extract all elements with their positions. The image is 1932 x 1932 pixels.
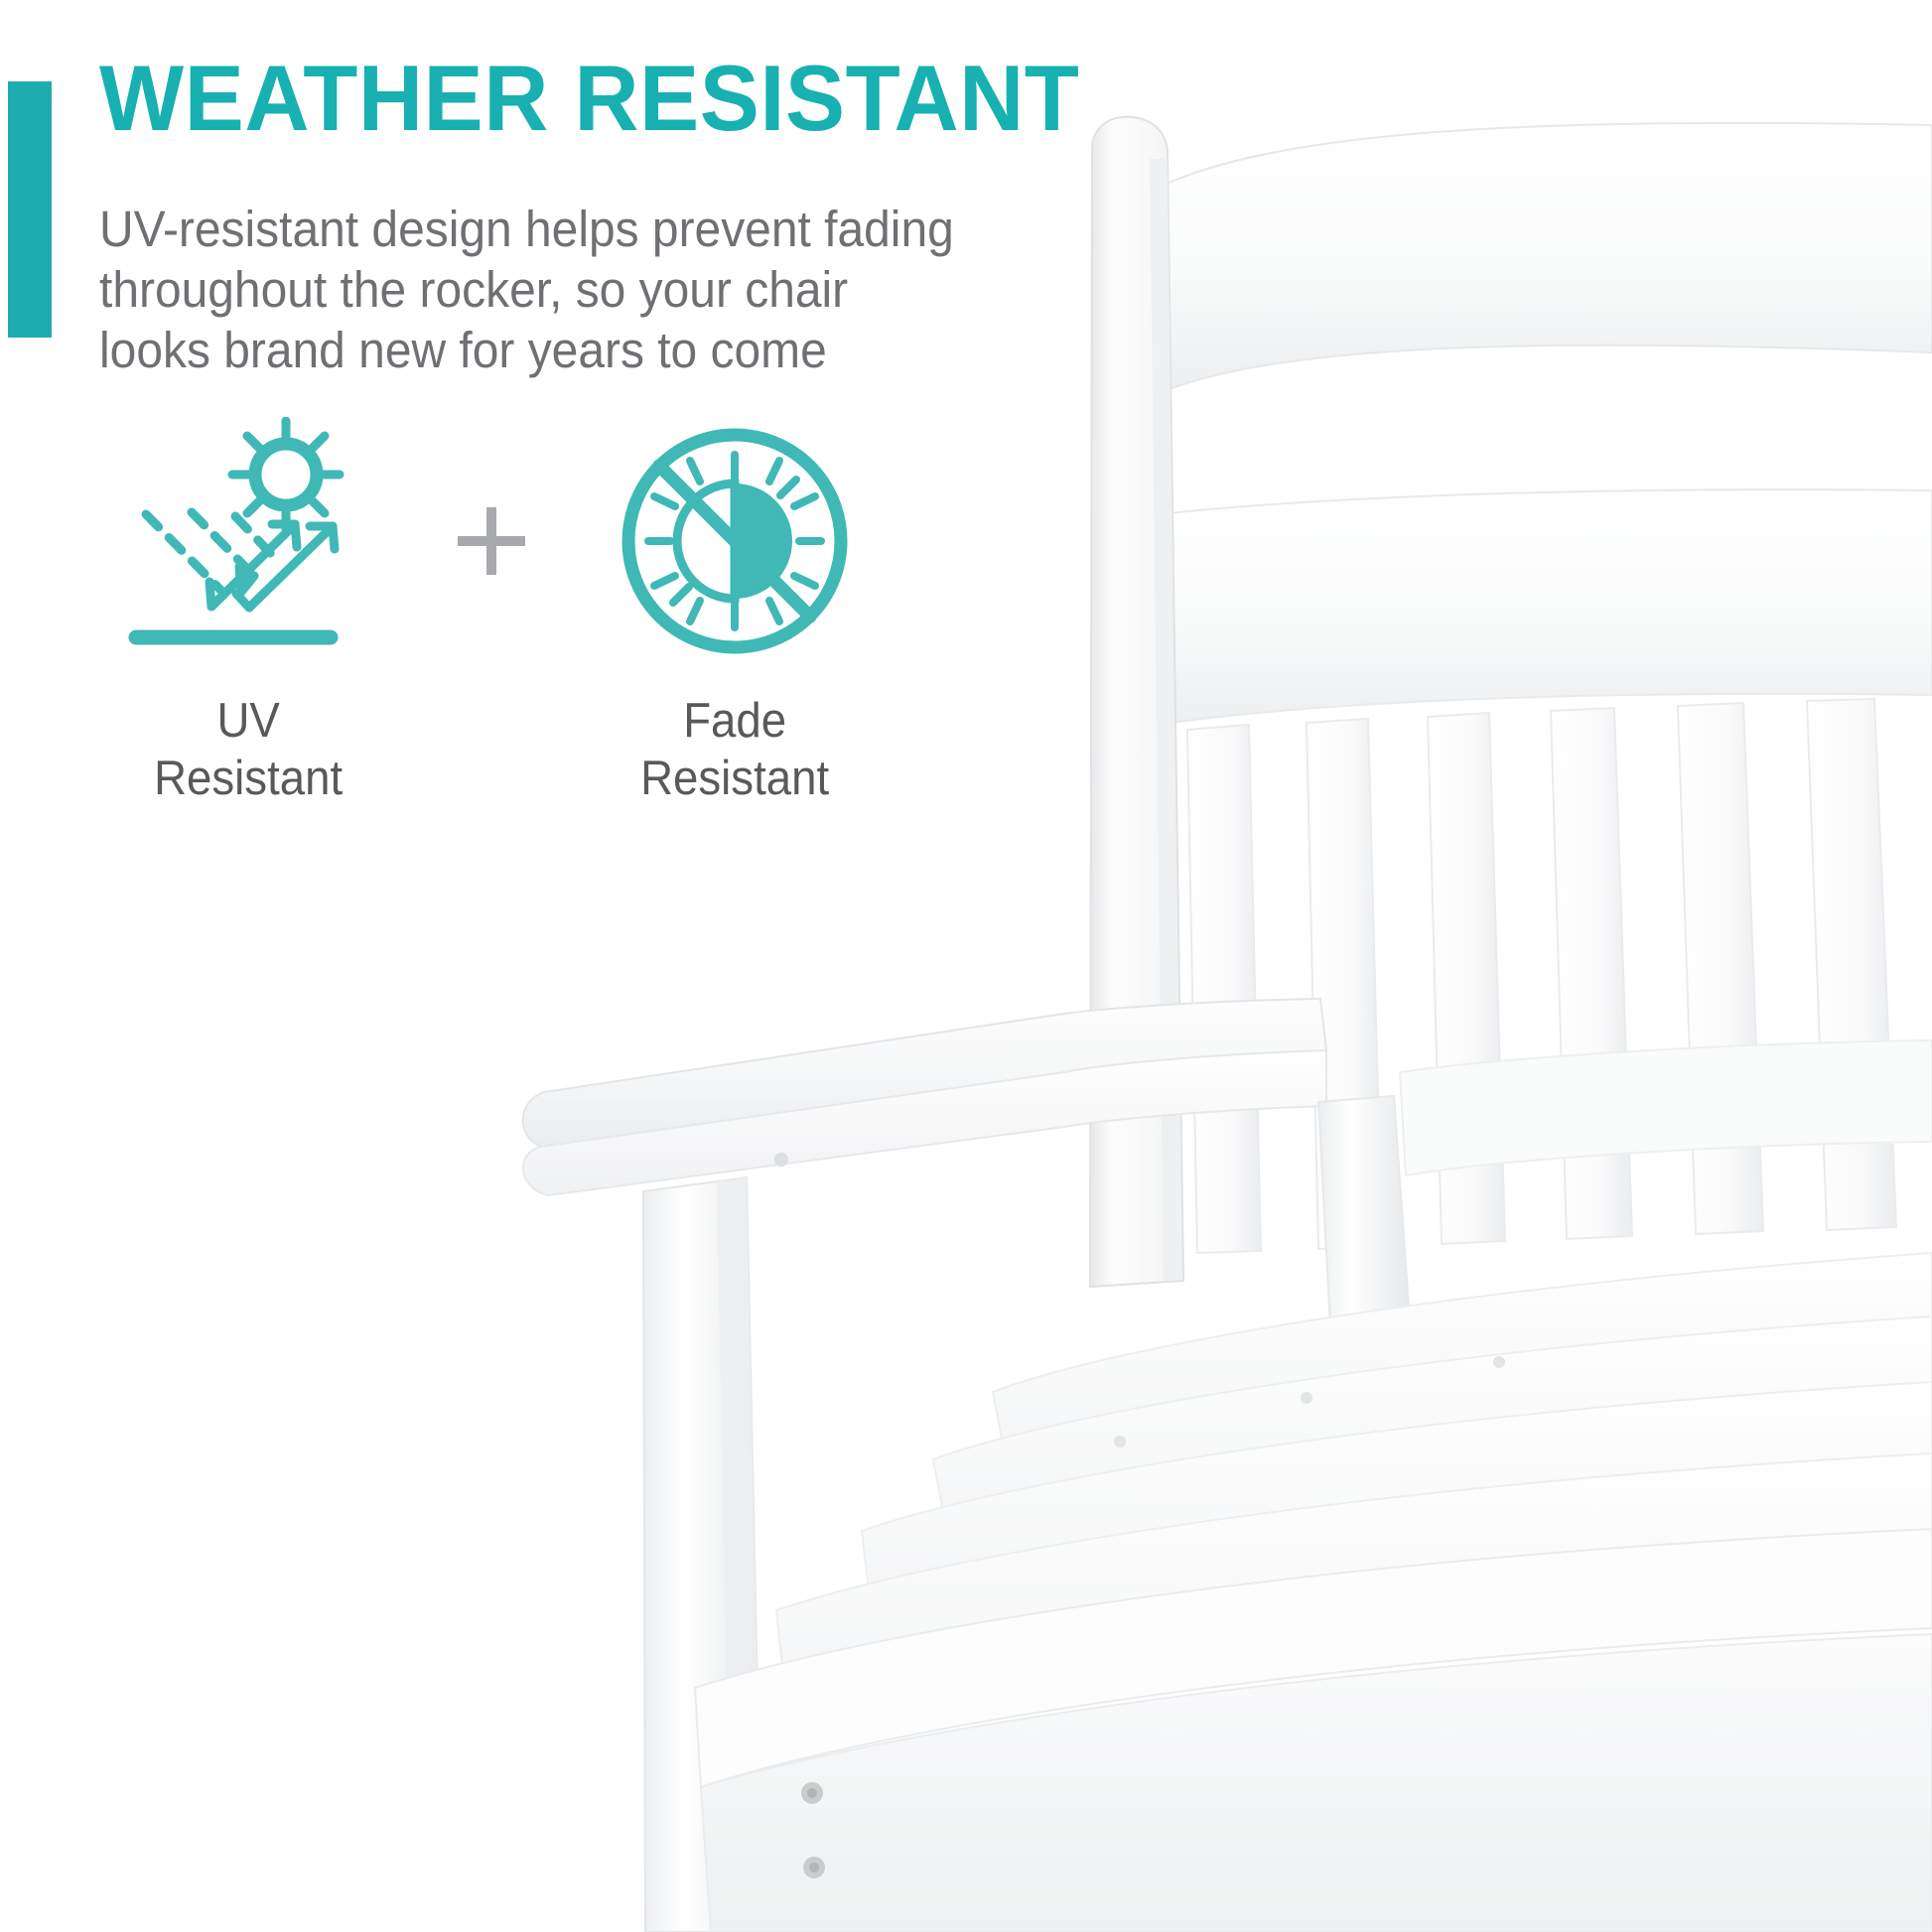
chair-front-apron xyxy=(701,1634,1932,1932)
feature-uv-label-line1: UV xyxy=(154,692,343,750)
armrest-screw-dot xyxy=(774,1153,788,1167)
feature-fade-label-line1: Fade xyxy=(640,692,829,750)
description-line-1: UV-resistant design helps prevent fading xyxy=(99,199,954,259)
chair-top-rail xyxy=(1167,123,1932,389)
plus-separator xyxy=(417,412,566,670)
chair-far-armrest xyxy=(1400,1040,1932,1175)
feature-fade-label: Fade Resistant xyxy=(640,692,829,807)
feature-fade-resistant: Fade Resistant xyxy=(566,412,903,807)
accent-bar xyxy=(8,81,52,338)
feature-uv-label-line2: Resistant xyxy=(154,750,343,807)
feature-uv-label: UV Resistant xyxy=(154,692,343,807)
chair-back-assembly xyxy=(1090,117,1932,1287)
apron-screw-lower xyxy=(803,1857,825,1878)
feature-fade-label-line2: Resistant xyxy=(640,750,829,807)
plus-icon xyxy=(452,501,531,581)
description-paragraph: UV-resistant design helps prevent fading… xyxy=(99,199,954,380)
chair-armrest-face xyxy=(523,1050,1326,1195)
feature-row: UV Resistant xyxy=(79,412,933,829)
chair-back-slats xyxy=(1187,699,1896,1253)
chair-arm-assembly xyxy=(523,999,1326,1195)
chair-seat xyxy=(695,1253,1932,1787)
description-line-2: throughout the rocker, so your chair xyxy=(99,259,954,320)
chair-left-back-post xyxy=(1090,117,1183,1287)
infographic-canvas: WEATHER RESISTANT UV-resistant design he… xyxy=(0,0,1932,1932)
apron-screw-upper xyxy=(801,1782,823,1804)
chair-armrest-top xyxy=(523,999,1326,1152)
uv-reflect-icon xyxy=(119,412,377,670)
page-title: WEATHER RESISTANT xyxy=(99,52,1079,145)
feature-uv-resistant: UV Resistant xyxy=(79,412,417,807)
no-fade-sun-icon xyxy=(606,412,864,670)
chair-mid-rail xyxy=(1142,489,1932,727)
description-line-3: looks brand new for years to come xyxy=(99,320,954,380)
chair-front-leg xyxy=(643,1177,762,1932)
chair-rear-arm-support xyxy=(1318,1096,1410,1326)
